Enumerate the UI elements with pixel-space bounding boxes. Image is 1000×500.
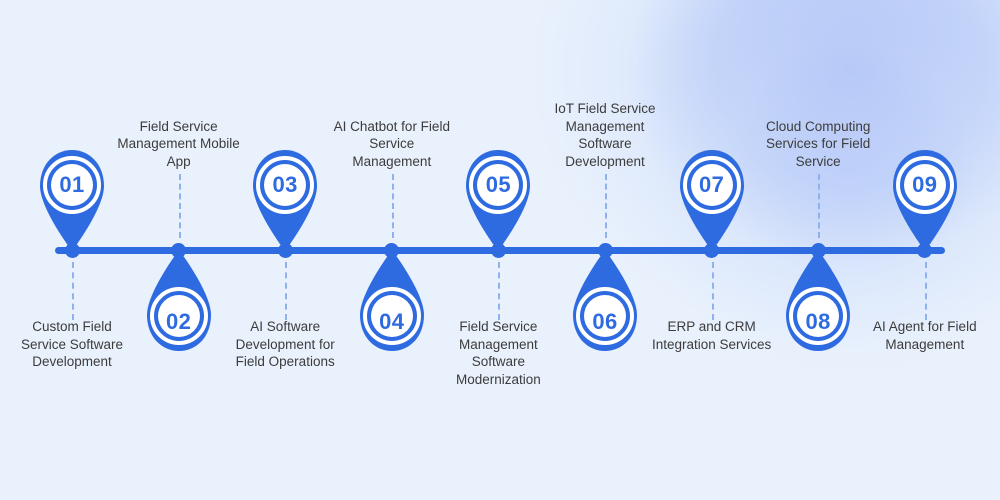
timeline-pin-number: 02 <box>141 311 217 333</box>
timeline-pin-number: 03 <box>247 174 323 196</box>
timeline-connector-09 <box>925 262 927 320</box>
timeline-node-06[interactable] <box>598 243 613 258</box>
timeline-node-09[interactable] <box>917 243 932 258</box>
timeline-node-05[interactable] <box>491 243 506 258</box>
timeline-connector-04 <box>392 174 394 238</box>
timeline-label-08: Cloud Computing Services for Field Servi… <box>756 118 880 171</box>
timeline-pin-number: 07 <box>674 174 750 196</box>
timeline-pin-number: 01 <box>34 174 110 196</box>
timeline-pin-number: 08 <box>780 311 856 333</box>
timeline-node-07[interactable] <box>704 243 719 258</box>
pin-marker-icon <box>247 147 323 251</box>
timeline-label-06: IoT Field Service Management Software De… <box>543 100 667 170</box>
timeline-connector-01 <box>72 262 74 320</box>
timeline-connector-08 <box>818 174 820 238</box>
timeline-pin-04[interactable]: 04 <box>354 250 430 354</box>
timeline-connector-02 <box>179 174 181 238</box>
timeline-label-09: AI Agent for Field Management <box>863 318 987 353</box>
timeline-label-05: Field Service Management Software Modern… <box>436 318 560 388</box>
timeline-pin-07[interactable]: 07 <box>674 147 750 251</box>
timeline-connector-07 <box>712 262 714 320</box>
timeline-pin-number: 09 <box>887 174 963 196</box>
timeline-pin-08[interactable]: 08 <box>780 250 856 354</box>
pin-marker-icon <box>141 250 217 354</box>
pin-marker-icon <box>887 147 963 251</box>
timeline-pin-number: 05 <box>460 174 536 196</box>
timeline-node-02[interactable] <box>171 243 186 258</box>
timeline-node-03[interactable] <box>278 243 293 258</box>
timeline-pin-01[interactable]: 01 <box>34 147 110 251</box>
pin-marker-icon <box>567 250 643 354</box>
timeline-infographic: 01Custom Field Service Software Developm… <box>0 0 1000 500</box>
timeline-pin-09[interactable]: 09 <box>887 147 963 251</box>
timeline-connector-05 <box>498 262 500 320</box>
timeline-pin-05[interactable]: 05 <box>460 147 536 251</box>
pin-marker-icon <box>460 147 536 251</box>
timeline-label-02: Field Service Management Mobile App <box>117 118 241 171</box>
timeline-label-07: ERP and CRM Integration Services <box>650 318 774 353</box>
timeline-connector-03 <box>285 262 287 320</box>
timeline-label-01: Custom Field Service Software Developmen… <box>10 318 134 371</box>
timeline-node-01[interactable] <box>65 243 80 258</box>
pin-marker-icon <box>674 147 750 251</box>
pin-marker-icon <box>34 147 110 251</box>
timeline-pin-number: 04 <box>354 311 430 333</box>
pin-marker-icon <box>780 250 856 354</box>
timeline-pin-06[interactable]: 06 <box>567 250 643 354</box>
timeline-pin-02[interactable]: 02 <box>141 250 217 354</box>
pin-marker-icon <box>354 250 430 354</box>
timeline-label-03: AI Software Development for Field Operat… <box>223 318 347 371</box>
timeline-node-08[interactable] <box>811 243 826 258</box>
timeline-connector-06 <box>605 174 607 238</box>
timeline-pin-03[interactable]: 03 <box>247 147 323 251</box>
timeline-pin-number: 06 <box>567 311 643 333</box>
timeline-label-04: AI Chatbot for Field Service Management <box>330 118 454 171</box>
